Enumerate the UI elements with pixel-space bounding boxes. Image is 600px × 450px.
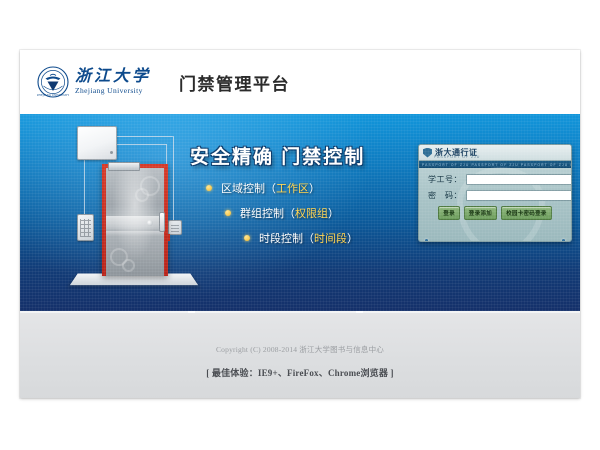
password-field[interactable] [466,190,572,201]
door-latch [165,234,170,241]
browser-support-note: [ 最佳体验：IE9+、FireFox、Chrome浏览器 ] [20,366,580,379]
door-highlight [106,216,164,229]
login-panel-subtitle: PASSPORT OF ZJU [434,155,480,159]
zju-seal-icon: ZHEJIANG UNIVERSITY [37,66,69,98]
password-row: 密 码： [425,190,565,201]
university-name-en: Zhejiang University [75,87,151,95]
panel-corner-dot [425,239,428,242]
door-handle [159,212,165,232]
brand-logo-text: 浙江大学 Zhejiang University [75,69,151,95]
panel-corner-dot [562,239,565,242]
brand-logo[interactable]: ZHEJIANG UNIVERSITY 浙江大学 Zhejiang Univer… [37,66,151,98]
cable [115,144,167,145]
feature-label: 区域控制（ [221,180,276,196]
campus-card-login-button[interactable]: 校园卡密码登录 [501,206,552,220]
feature-highlight: 工作区 [276,180,309,196]
hero-banner: 安全精确 门禁控制 区域控制（ 工作区 ） 群组控制（ 权限组 ） 时段控制（ … [20,114,580,311]
keypad-reader-icon [77,214,94,241]
feature-tail: ） [328,205,339,221]
app-title: 门禁管理平台 [179,70,290,95]
footer-notch [356,311,363,313]
student-staff-id-row: 学工号： [425,174,565,185]
login-button-row: 登录 登录添加 校园卡密码登录 [425,206,565,220]
login-form: 学工号： 密 码： 登录 登录添加 校园卡密码登录 [419,168,571,220]
door-frame [102,164,168,276]
door-highlight [106,231,164,236]
bullet-dot-icon [206,185,212,191]
login-panel-header: 浙大通行证 PASSPORT OF ZJU [419,145,571,161]
site-footer: Copyright (C) 2008-2014 浙江大学图书与信息中心 [ 最佳… [20,311,580,398]
login-panel: 浙大通行证 PASSPORT OF ZJU PASSPORT OF ZJU PA… [418,144,572,242]
copyright-text: Copyright (C) 2008-2014 浙江大学图书与信息中心 [20,344,580,355]
feature-highlight: 权限组 [295,205,328,221]
feature-highlight: 时间段 [314,230,347,246]
cable [84,158,85,216]
feature-tail: ） [347,230,358,246]
university-name-cn: 浙江大学 [75,69,151,85]
banner-feature-list: 区域控制（ 工作区 ） 群组控制（ 权限组 ） 时段控制（ 时间段 ） [206,180,358,255]
banner-feature-item: 时段控制（ 时间段 ） [244,230,358,246]
student-staff-id-label: 学工号： [425,174,462,185]
shield-icon [423,148,432,158]
card-reader-icon [168,220,182,235]
student-staff-id-field[interactable] [466,174,572,185]
door-knob [147,220,153,226]
controller-box-icon [77,126,117,160]
feature-label: 时段控制（ [259,230,314,246]
login-button[interactable]: 登录 [438,206,460,220]
door-panel [106,168,164,276]
gear-icon [122,259,135,272]
bullet-dot-icon [225,210,231,216]
cable [115,136,173,137]
feature-label: 群组控制（ [240,205,295,221]
gear-icon [135,188,149,202]
page-container: ZHEJIANG UNIVERSITY 浙江大学 Zhejiang Univer… [20,50,580,398]
door-closer [108,162,140,171]
site-header: ZHEJIANG UNIVERSITY 浙江大学 Zhejiang Univer… [20,50,580,114]
bullet-dot-icon [244,235,250,241]
password-label: 密 码： [425,190,462,201]
banner-feature-item: 区域控制（ 工作区 ） [206,180,358,196]
login-add-button[interactable]: 登录添加 [464,206,497,220]
feature-tail: ） [309,180,320,196]
svg-text:ZHEJIANG UNIVERSITY: ZHEJIANG UNIVERSITY [37,93,69,97]
cable [173,136,174,228]
banner-headline: 安全精确 门禁控制 [190,142,365,169]
banner-feature-item: 群组控制（ 权限组 ） [225,205,358,221]
footer-notch [188,311,195,313]
